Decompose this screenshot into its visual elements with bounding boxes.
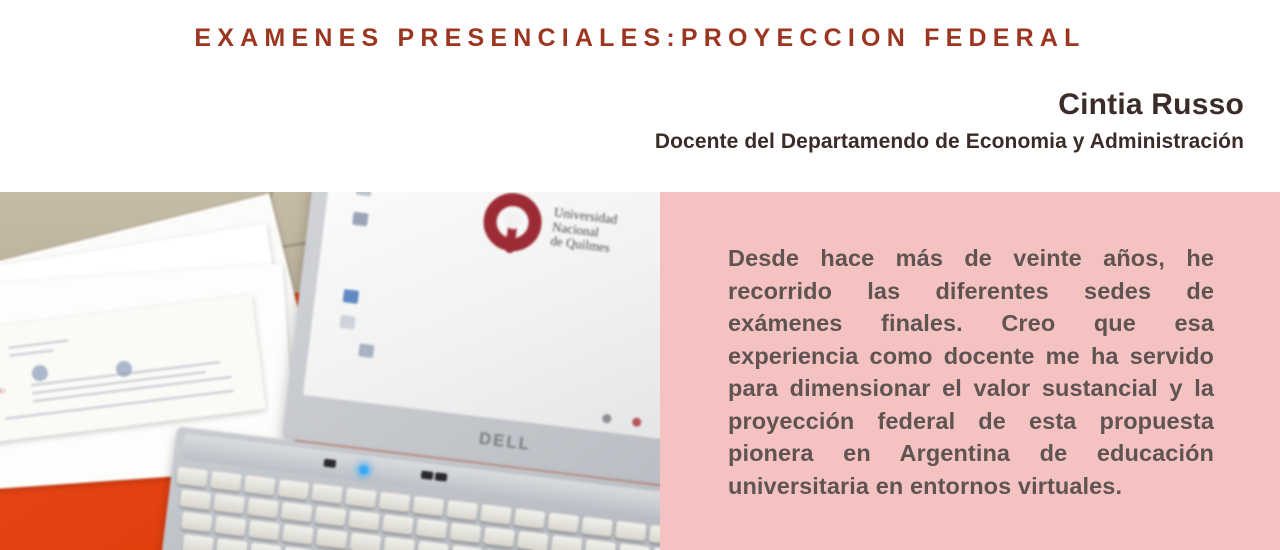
page-title: EXAMENES PRESENCIALES:PROYECCION FEDERAL bbox=[0, 24, 1280, 53]
author-role: Docente del Departamendo de Economia y A… bbox=[655, 130, 1244, 154]
quote-text: Desde hace más de veinte años, he recorr… bbox=[728, 242, 1214, 502]
header-band: EXAMENES PRESENCIALES:PROYECCION FEDERAL… bbox=[0, 0, 1280, 192]
photo-softness-overlay bbox=[0, 192, 660, 550]
laptop-desk-photo: Ordenado bbox=[0, 192, 660, 550]
quote-panel: Desde hace más de veinte años, he recorr… bbox=[660, 192, 1280, 550]
slide-root: EXAMENES PRESENCIALES:PROYECCION FEDERAL… bbox=[0, 0, 1280, 550]
content-band: Ordenado bbox=[0, 192, 1280, 550]
author-name: Cintia Russo bbox=[1058, 88, 1244, 122]
